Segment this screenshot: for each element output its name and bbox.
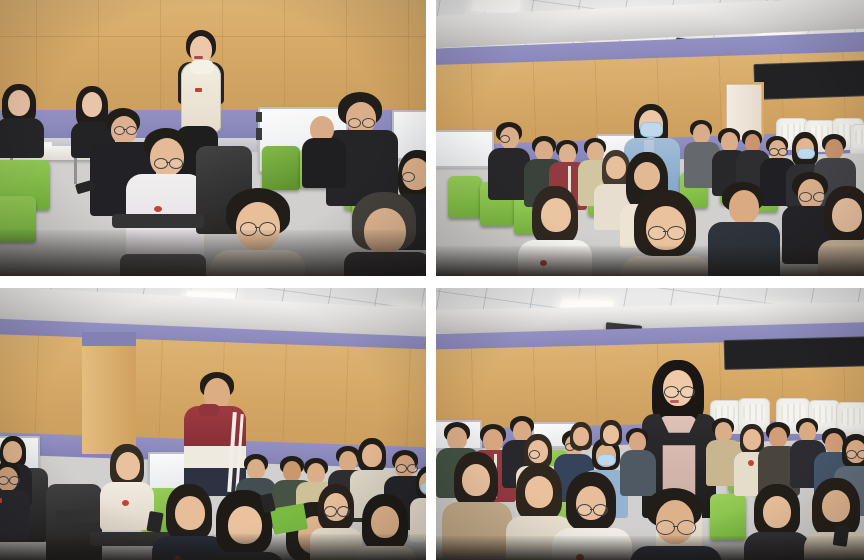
face-mask (797, 148, 815, 159)
green-seat (448, 176, 482, 218)
face-mask (597, 454, 616, 466)
face-mask (640, 122, 663, 137)
photo-top-left[interactable] (0, 0, 426, 276)
scene-bottom-right (436, 288, 864, 560)
photo-grid (0, 0, 864, 560)
whiteboard (436, 130, 494, 168)
wall-display-screen (753, 60, 864, 100)
scene-bottom-left (0, 288, 426, 560)
wall-display-screen (724, 336, 864, 370)
scene-top-left (0, 0, 426, 276)
wall-pillar (82, 336, 136, 454)
photo-bottom-left[interactable] (0, 288, 426, 560)
scene-top-right (436, 0, 864, 276)
photo-bottom-right[interactable] (436, 288, 864, 560)
face-mask (420, 482, 426, 493)
photo-top-right[interactable] (436, 0, 864, 276)
green-seat (262, 146, 300, 190)
plastic-chair (850, 124, 864, 154)
green-seat (710, 494, 746, 540)
